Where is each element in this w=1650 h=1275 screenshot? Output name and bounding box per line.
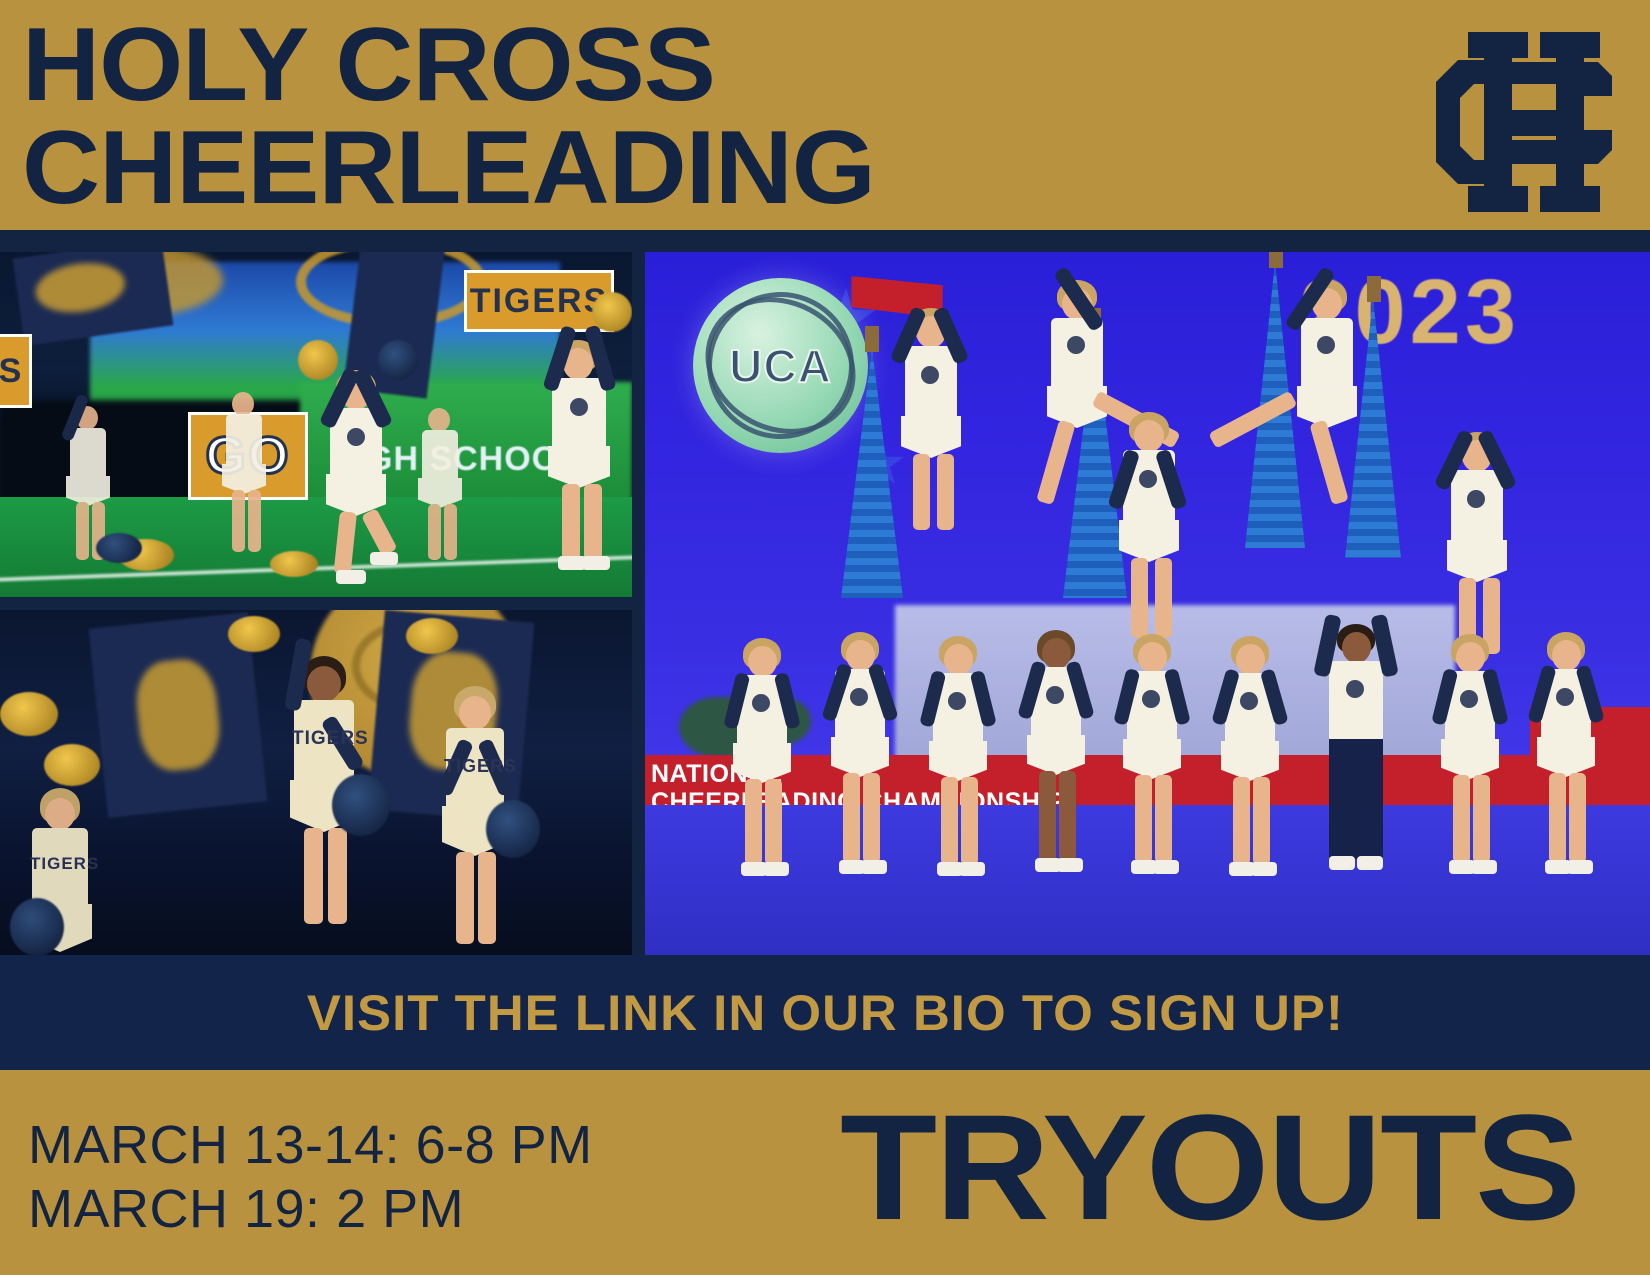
cheerleader-flyer (1405, 432, 1555, 662)
flyer-root: HOLY CROSS CHEERLEADING (0, 0, 1650, 1275)
cheerleader-figure (52, 402, 122, 592)
cheerleader-base (1511, 632, 1621, 888)
photo-right: UCA 2023 (645, 252, 1650, 955)
date-line-2: MARCH 19: 2 PM (28, 1178, 593, 1242)
uca-logo-icon: UCA (693, 278, 868, 453)
cheerleader-base (1415, 634, 1525, 888)
hc-monogram-icon (1380, 18, 1630, 218)
cheerleader-base (1001, 630, 1111, 888)
title-line-1: HOLY CROSS (22, 14, 1249, 117)
uniform-text: TIGERS (444, 756, 504, 777)
cheerleader-figure: TIGERS (410, 686, 540, 955)
page-title: HOLY CROSS CHEERLEADING (22, 14, 1202, 220)
cta-text: VISIT THE LINK IN OUR BIO TO SIGN UP! (306, 984, 1343, 1042)
photo-bottom-left: TIGERS TIGERS (0, 610, 632, 955)
uca-logo-text: UCA (693, 278, 868, 453)
cheerleader-base-male (1297, 624, 1417, 892)
cheerleader-figure: TIGERS (6, 788, 126, 955)
cheerleader-figure (208, 388, 278, 588)
cheerleader-flyer (1077, 412, 1227, 652)
tryouts-headline: TRYOUTS (840, 1092, 1579, 1242)
title-line-2: CHEERLEADING (22, 117, 1249, 220)
sign-s: S (0, 334, 32, 408)
footer-band: MARCH 13-14: 6-8 PM MARCH 19: 2 PM TRYOU… (0, 1070, 1650, 1275)
cheerleader-base (1195, 636, 1305, 888)
cta-band: VISIT THE LINK IN OUR BIO TO SIGN UP! (0, 955, 1650, 1070)
cheerleader-figure (520, 340, 630, 590)
cheerleader-base (707, 638, 817, 888)
photo-top-left: HIGH SCHOOL S GO TIGERS (0, 252, 632, 597)
cheerleader-base (903, 636, 1013, 888)
cheerleader-base (805, 632, 915, 888)
date-line-1: MARCH 13-14: 6-8 PM (28, 1114, 593, 1178)
cheerleader-flyer (859, 308, 1009, 538)
uniform-text: TIGERS (30, 854, 90, 874)
photo-collage: HIGH SCHOOL S GO TIGERS (0, 233, 1650, 955)
sign-tigers: TIGERS (464, 270, 614, 332)
cheerleader-base (1097, 634, 1207, 888)
header-band: HOLY CROSS CHEERLEADING (0, 0, 1650, 232)
uniform-text: TIGERS (292, 728, 354, 750)
cheerleader-figure: TIGERS (258, 656, 388, 955)
cheerleader-figure (404, 404, 474, 594)
tryout-dates: MARCH 13-14: 6-8 PM MARCH 19: 2 PM (28, 1114, 593, 1241)
